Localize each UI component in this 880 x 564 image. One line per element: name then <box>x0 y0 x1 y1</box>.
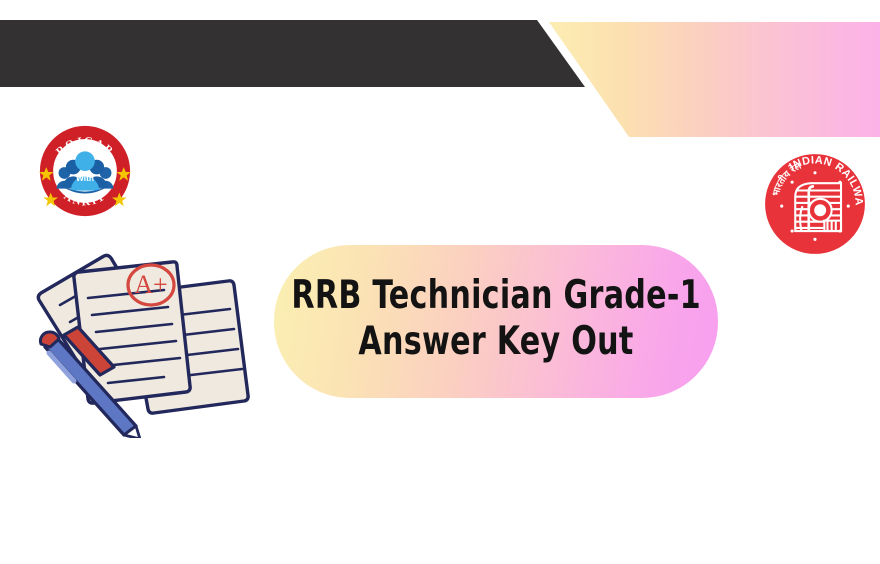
svg-text:A+: A+ <box>134 270 167 299</box>
dark-parallelogram <box>0 20 585 87</box>
gradient-banner-ribbon <box>549 22 880 137</box>
headline-line-2: Answer Key Out <box>358 319 633 365</box>
exam-papers-illustration: A+ <box>14 243 266 438</box>
rojgar-with-ankit-logo[interactable]: With ROJGAR ANKIT <box>36 122 134 220</box>
poster-root: With ROJGAR ANKIT <box>0 0 880 564</box>
headline-banner: RRB Technician Grade-1 Answer Key Out <box>274 245 718 398</box>
indian-railways-logo[interactable]: INDIAN RAILWAYS भारतीय रेल <box>763 152 867 256</box>
logo-center-text: With <box>76 173 94 183</box>
headline-line-1: RRB Technician Grade-1 <box>291 273 701 319</box>
